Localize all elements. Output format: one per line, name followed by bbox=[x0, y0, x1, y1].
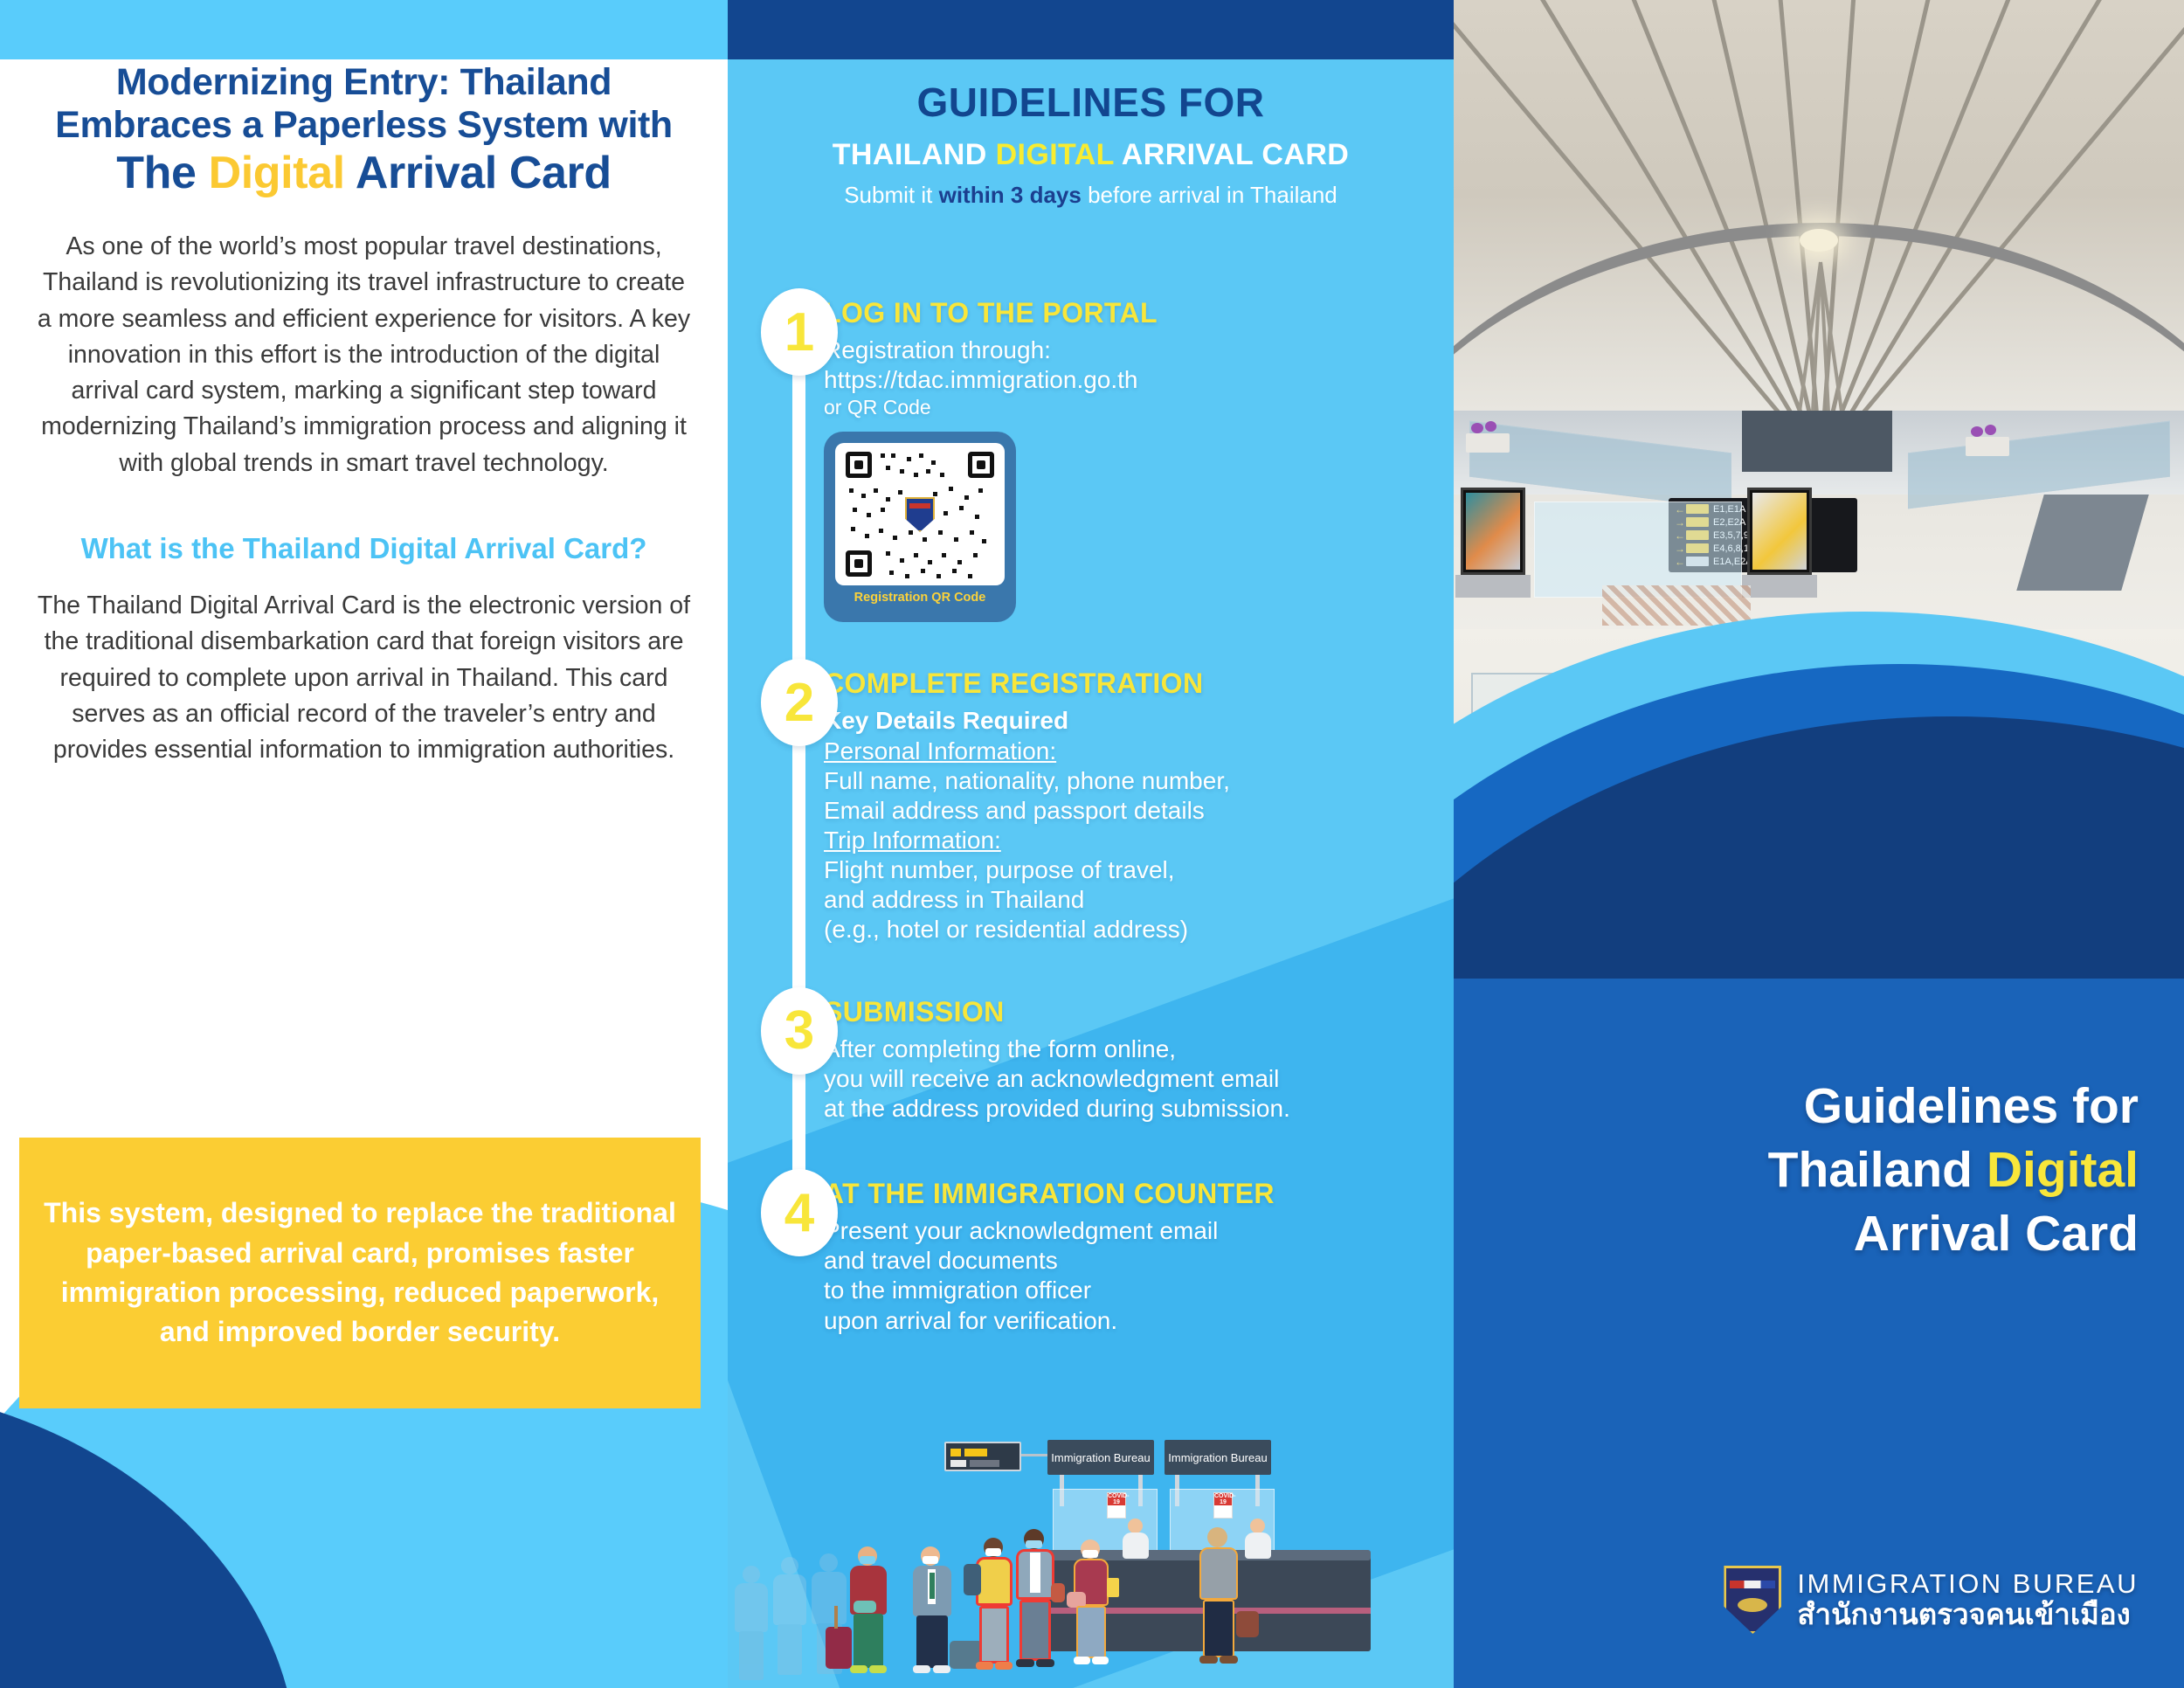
floor-pattern bbox=[1602, 585, 1751, 626]
subtitle-deadline: within 3 days bbox=[939, 182, 1082, 208]
handbag bbox=[1236, 1611, 1259, 1637]
shoe bbox=[1199, 1656, 1218, 1664]
step-item-2: 2 COMPLETE REGISTRATION Key Details Requ… bbox=[728, 668, 1454, 944]
covid-notice-2-label: COVID-19 bbox=[1214, 1493, 1232, 1505]
travelator bbox=[1742, 411, 1892, 472]
qr-finder-bottom-left bbox=[846, 550, 872, 577]
qr-module bbox=[886, 466, 890, 470]
title-line-3-part-c: Arrival Card bbox=[345, 148, 612, 198]
shoe bbox=[869, 1665, 887, 1673]
step2-personal-line1: Full name, nationality, phone number, bbox=[824, 766, 1454, 796]
ad-screen bbox=[1752, 493, 1807, 570]
traveler-head bbox=[819, 1553, 838, 1572]
qr-module bbox=[952, 569, 957, 573]
traveler-body bbox=[1199, 1547, 1238, 1600]
qr-finder-top-left bbox=[846, 452, 872, 478]
shoe bbox=[976, 1662, 993, 1670]
officer-head bbox=[1250, 1519, 1265, 1533]
document-folder bbox=[1051, 1583, 1065, 1602]
step-title-1: LOG IN TO THE PORTAL bbox=[824, 297, 1454, 329]
right-panel: ← E1,E1A → E2,E2A ← E3,5,7,9 bbox=[1454, 0, 2184, 1688]
right-title-line3: Arrival Card bbox=[1454, 1202, 2139, 1266]
definition-paragraph: The Thailand Digital Arrival Card is the… bbox=[33, 588, 695, 769]
qr-module bbox=[933, 492, 937, 496]
shoe bbox=[1092, 1657, 1109, 1664]
face-mask-icon bbox=[985, 1548, 1001, 1556]
left-panel: Modernizing Entry: Thailand Embraces a P… bbox=[0, 0, 728, 1688]
ad-screen bbox=[1466, 493, 1520, 570]
qr-module bbox=[867, 513, 871, 517]
face-mask-icon bbox=[1082, 1550, 1098, 1558]
intro-paragraph: As one of the world’s most popular trave… bbox=[35, 229, 693, 481]
qr-module bbox=[893, 536, 897, 540]
officer-head bbox=[1128, 1519, 1143, 1533]
qr-module bbox=[874, 488, 878, 493]
qr-module bbox=[881, 453, 885, 458]
traveler-legs bbox=[1076, 1606, 1106, 1658]
shoe bbox=[1036, 1659, 1054, 1667]
shoe bbox=[1016, 1659, 1034, 1667]
step-number-badge-2: 2 bbox=[761, 659, 838, 746]
display-base bbox=[1742, 575, 1817, 598]
step2-key-details-heading: Key Details Required bbox=[824, 706, 1454, 736]
step-title-4: AT THE IMMIGRATION COUNTER bbox=[824, 1178, 1454, 1210]
step-title-2: COMPLETE REGISTRATION bbox=[824, 668, 1454, 700]
guidelines-header: GUIDELINES FOR THAILAND DIGITAL ARRIVAL … bbox=[728, 79, 1454, 209]
step4-line2: and travel documents bbox=[824, 1246, 1454, 1276]
qr-module bbox=[968, 574, 972, 578]
immigration-bureau-logo: IMMIGRATION BUREAU สำนักงานตรวจคนเข้าเมื… bbox=[1724, 1566, 2139, 1634]
covid-notice-2: COVID-19 bbox=[1213, 1492, 1233, 1519]
qr-module bbox=[936, 574, 941, 578]
immigration-counter-1 bbox=[1032, 1555, 1205, 1651]
qr-module bbox=[940, 473, 944, 477]
flower-planter-left bbox=[1466, 433, 1510, 453]
counter-top-1 bbox=[1032, 1550, 1205, 1560]
qr-module bbox=[905, 574, 909, 578]
traveler-legs bbox=[1019, 1600, 1051, 1661]
step-body-4: Present your acknowledgment email and tr… bbox=[824, 1216, 1454, 1336]
qr-module bbox=[943, 511, 948, 515]
orchid-flower bbox=[1471, 423, 1483, 433]
backpack bbox=[964, 1564, 981, 1595]
escalator-right bbox=[2016, 495, 2149, 591]
callout-text: This system, designed to replace the tra… bbox=[19, 1193, 701, 1352]
qr-module bbox=[949, 487, 953, 491]
advertising-display-right bbox=[1747, 488, 1812, 575]
guidelines-heading-line1: GUIDELINES FOR bbox=[728, 79, 1454, 126]
qr-module bbox=[954, 537, 958, 542]
qr-module bbox=[938, 530, 943, 535]
traveler-legs bbox=[916, 1615, 948, 1668]
logo-text: IMMIGRATION BUREAU สำนักงานตรวจคนเข้าเมื… bbox=[1797, 1570, 2139, 1630]
qr-module bbox=[919, 453, 923, 458]
belt-bag bbox=[854, 1601, 876, 1613]
traveler-body bbox=[976, 1557, 1013, 1606]
police-shield-icon bbox=[1724, 1566, 1781, 1634]
necktie bbox=[930, 1573, 935, 1599]
qr-module bbox=[891, 453, 895, 458]
shoe bbox=[1074, 1657, 1090, 1664]
qr-module bbox=[982, 539, 986, 543]
step2-personal-line2: Email address and passport details bbox=[824, 796, 1454, 826]
subtitle-part-c: before arrival in Thailand bbox=[1082, 182, 1337, 208]
qr-module bbox=[900, 469, 904, 474]
step-item-4: 4 AT THE IMMIGRATION COUNTER Present you… bbox=[728, 1178, 1454, 1336]
traveler-body bbox=[735, 1583, 768, 1632]
qr-module bbox=[959, 506, 964, 510]
step4-line3: to the immigration officer bbox=[824, 1276, 1454, 1305]
qr-module bbox=[931, 460, 936, 465]
counter-stripe-1 bbox=[1032, 1608, 1205, 1614]
step-body-1: Registration through: https://tdac.immig… bbox=[824, 336, 1454, 419]
flight-board-icon bbox=[944, 1442, 1021, 1471]
qr-module bbox=[898, 490, 902, 495]
section-subheading: What is the Thailand Digital Arrival Car… bbox=[16, 532, 712, 565]
logo-text-english: IMMIGRATION BUREAU bbox=[1797, 1570, 2139, 1598]
airport-terminal-photo: ← E1,E1A → E2,E2A ← E3,5,7,9 bbox=[1454, 0, 2184, 979]
right-title-line2: Thailand Digital bbox=[1454, 1138, 2139, 1202]
qr-module bbox=[879, 529, 883, 533]
ceiling-light bbox=[1800, 229, 1838, 252]
officer-body bbox=[1123, 1532, 1149, 1559]
qr-module bbox=[851, 527, 855, 531]
qr-module bbox=[909, 530, 913, 535]
counter-sign-1-label: Immigration Bureau bbox=[1051, 1451, 1150, 1464]
heading-digital-highlight: DIGITAL bbox=[996, 138, 1115, 171]
flower-planter-right bbox=[1966, 437, 2009, 456]
title-line-3-part-a: The bbox=[116, 148, 208, 198]
terminal-glass-partition bbox=[1534, 502, 1742, 598]
step-number-badge-1: 1 bbox=[761, 288, 838, 376]
shoe bbox=[1220, 1656, 1238, 1664]
left-panel-content: Modernizing Entry: Thailand Embraces a P… bbox=[0, 0, 728, 769]
right-panel-title: Guidelines for Thailand Digital Arrival … bbox=[1454, 1075, 2184, 1266]
counter-sign-1: Immigration Bureau bbox=[1047, 1440, 1154, 1475]
step3-line3: at the address provided during submissio… bbox=[824, 1094, 1454, 1124]
shield-emblem bbox=[1738, 1598, 1767, 1612]
suitcase-handle bbox=[834, 1606, 838, 1629]
qr-code-card[interactable]: Registration QR Code bbox=[824, 432, 1016, 622]
callout-box: This system, designed to replace the tra… bbox=[19, 1138, 701, 1408]
face-mask-icon bbox=[923, 1556, 938, 1564]
step-number-badge-4: 4 bbox=[761, 1169, 838, 1256]
qr-module bbox=[921, 569, 925, 573]
qr-module bbox=[886, 551, 890, 556]
counter-sign-2: Immigration Bureau bbox=[1165, 1440, 1271, 1475]
step1-registration-line: Registration through: bbox=[824, 336, 1454, 365]
qr-module bbox=[861, 494, 866, 498]
qr-module bbox=[975, 515, 979, 519]
counter-sign-2-label: Immigration Bureau bbox=[1168, 1451, 1267, 1464]
qr-module bbox=[957, 560, 962, 564]
steps-list: 1 LOG IN TO THE PORTAL Registration thro… bbox=[728, 297, 1454, 1336]
shirt-front bbox=[1030, 1553, 1040, 1593]
step-item-1: 1 LOG IN TO THE PORTAL Registration thro… bbox=[728, 297, 1454, 622]
step3-line2: you will receive an acknowledgment email bbox=[824, 1064, 1454, 1094]
face-mask-icon bbox=[1026, 1540, 1042, 1548]
traveler-body bbox=[812, 1572, 847, 1624]
officer-body bbox=[1245, 1532, 1271, 1559]
qr-module bbox=[900, 558, 904, 563]
step2-trip-line2: and address in Thailand bbox=[824, 885, 1454, 915]
step1-portal-url[interactable]: https://tdac.immigration.go.th bbox=[824, 365, 1454, 395]
qr-module bbox=[889, 571, 894, 575]
step-title-3: SUBMISSION bbox=[824, 996, 1454, 1028]
qr-code-label: Registration QR Code bbox=[835, 591, 1005, 605]
orchid-flower bbox=[1971, 426, 1983, 437]
display-base bbox=[1455, 575, 1531, 598]
qr-module bbox=[881, 508, 885, 512]
smartphone-icon bbox=[1107, 1578, 1119, 1597]
title-line-3: The Digital Arrival Card bbox=[16, 148, 712, 199]
heading-thailand: THAILAND bbox=[833, 138, 996, 171]
qr-module bbox=[964, 495, 969, 500]
immigration-shield-icon bbox=[905, 497, 935, 532]
step3-line1: After completing the form online, bbox=[824, 1034, 1454, 1064]
right-title-thailand: Thailand bbox=[1768, 1142, 1987, 1198]
traveler-head bbox=[781, 1557, 798, 1574]
right-title-digital-highlight: Digital bbox=[1987, 1142, 2139, 1198]
step2-trip-line3: (e.g., hotel or residential address) bbox=[824, 915, 1454, 944]
step2-trip-label: Trip Information: bbox=[824, 826, 1454, 855]
qr-module bbox=[942, 553, 946, 557]
brochure-page: Modernizing Entry: Thailand Embraces a P… bbox=[0, 0, 2184, 1688]
orchid-flower bbox=[1985, 425, 1996, 435]
qr-module bbox=[886, 497, 890, 502]
advertising-display-left bbox=[1461, 488, 1525, 575]
step4-line4: upon arrival for verification. bbox=[824, 1306, 1454, 1336]
orchid-flower bbox=[1485, 421, 1496, 432]
traveler-legs bbox=[1203, 1600, 1234, 1657]
shoe bbox=[913, 1665, 930, 1673]
qr-module bbox=[907, 457, 911, 461]
traveler-head bbox=[743, 1566, 760, 1583]
step-number-badge-3: 3 bbox=[761, 987, 838, 1075]
shield-band bbox=[1730, 1581, 1775, 1588]
qr-module bbox=[849, 488, 854, 493]
traveler-body bbox=[773, 1574, 806, 1625]
rolling-suitcase bbox=[826, 1627, 852, 1669]
qr-module bbox=[978, 488, 983, 493]
step2-personal-label: Personal Information: bbox=[824, 737, 1454, 766]
shoe bbox=[933, 1665, 950, 1673]
qr-module bbox=[914, 473, 918, 477]
qr-module bbox=[926, 469, 930, 474]
step-item-3: 3 SUBMISSION After completing the form o… bbox=[728, 996, 1454, 1124]
step2-trip-line1: Flight number, purpose of travel, bbox=[824, 855, 1454, 885]
title-line-2: Embraces a Paperless System with bbox=[55, 104, 673, 146]
face-mask-icon bbox=[860, 1556, 875, 1564]
qr-module bbox=[973, 553, 978, 557]
qr-module bbox=[970, 530, 974, 535]
step4-line1: Present your acknowledgment email bbox=[824, 1216, 1454, 1246]
qr-module bbox=[865, 534, 869, 538]
traveler-head bbox=[1207, 1527, 1227, 1547]
title-line-1: Modernizing Entry: Thailand bbox=[116, 61, 612, 103]
guidelines-heading-line2: THAILAND DIGITAL ARRIVAL CARD bbox=[728, 138, 1454, 172]
qr-module bbox=[914, 553, 918, 557]
page-title: Modernizing Entry: Thailand Embraces a P… bbox=[16, 61, 712, 199]
traveler-legs bbox=[854, 1614, 883, 1668]
traveler-legs bbox=[739, 1631, 764, 1680]
middle-panel: GUIDELINES FOR THAILAND DIGITAL ARRIVAL … bbox=[728, 0, 1454, 1688]
terminal-ceiling bbox=[1454, 0, 2184, 411]
qr-module bbox=[928, 560, 932, 564]
traveler-legs bbox=[778, 1624, 802, 1675]
right-title-line1: Guidelines for bbox=[1454, 1075, 2139, 1138]
qr-finder-top-right bbox=[968, 452, 994, 478]
step-body-3: After completing the form online, you wi… bbox=[824, 1034, 1454, 1124]
logo-text-thai: สำนักงานตรวจคนเข้าเมือง bbox=[1797, 1600, 2139, 1629]
step1-qr-alt: or QR Code bbox=[824, 395, 1454, 419]
heading-arrival-card: ARRIVAL CARD bbox=[1114, 138, 1349, 171]
qr-module bbox=[853, 508, 857, 512]
qr-code-image bbox=[835, 443, 1005, 585]
covid-notice-1: COVID-19 bbox=[1107, 1492, 1126, 1519]
traveler-legs bbox=[979, 1606, 1009, 1664]
board-arm bbox=[1021, 1454, 1047, 1456]
subtitle-part-a: Submit it bbox=[844, 182, 938, 208]
shoe bbox=[995, 1662, 1013, 1670]
middle-top-bar bbox=[728, 0, 1454, 59]
guidelines-subtitle: Submit it within 3 days before arrival i… bbox=[728, 182, 1454, 209]
shoe bbox=[850, 1665, 867, 1673]
covid-notice-1-label: COVID-19 bbox=[1108, 1493, 1125, 1505]
title-highlight-digital: Digital bbox=[209, 148, 345, 198]
step-body-2: Key Details Required Personal Informatio… bbox=[824, 706, 1454, 944]
immigration-queue-illustration: Immigration Bureau Immigration Bureau CO… bbox=[728, 1426, 1454, 1688]
qr-module bbox=[923, 537, 927, 542]
